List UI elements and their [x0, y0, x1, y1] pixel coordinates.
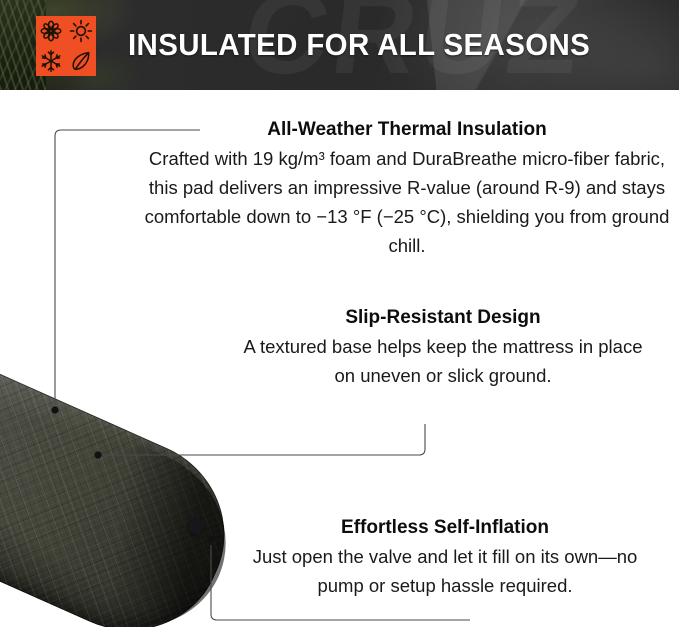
flower-icon: [36, 16, 66, 46]
sun-icon: [66, 16, 96, 46]
callout-body: A textured base helps keep the mattress …: [243, 332, 643, 390]
page-title: INSULATED FOR ALL SEASONS: [128, 20, 590, 70]
sleeping-pad-body: [0, 324, 254, 627]
four-seasons-icon: [36, 16, 96, 76]
infographic-canvas: CRUZ: [0, 0, 679, 627]
callout-effortless-self-inflation: Effortless Self-Inflation Just open the …: [235, 515, 655, 600]
callout-all-weather-thermal-insulation: All-Weather Thermal Insulation Crafted w…: [135, 117, 679, 260]
callout-slip-resistant-design: Slip-Resistant Design A textured base he…: [243, 305, 643, 390]
callout-body: Just open the valve and let it fill on i…: [235, 542, 655, 600]
callout-title: Slip-Resistant Design: [243, 305, 643, 331]
pad-edge-outline: [0, 324, 254, 627]
callout-title: All-Weather Thermal Insulation: [135, 117, 679, 143]
callout-title: Effortless Self-Inflation: [235, 515, 655, 541]
snowflake-icon: [36, 46, 66, 76]
header-band: CRUZ: [0, 0, 679, 90]
leaf-icon: [66, 46, 96, 76]
callout-body: Crafted with 19 kg/m³ foam and DuraBreat…: [135, 144, 679, 260]
